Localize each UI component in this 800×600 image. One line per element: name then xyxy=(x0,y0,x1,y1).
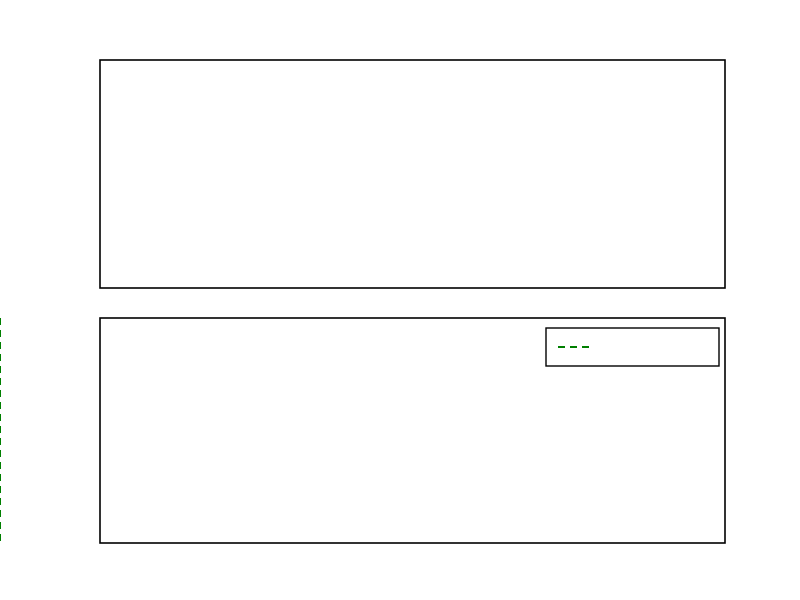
chart-canvas xyxy=(0,0,800,600)
top-axes xyxy=(100,60,725,288)
matplotlib-figure xyxy=(0,0,800,600)
bottom-axes xyxy=(0,318,725,543)
legend[interactable] xyxy=(546,328,719,366)
top-plot-frame xyxy=(100,60,725,288)
